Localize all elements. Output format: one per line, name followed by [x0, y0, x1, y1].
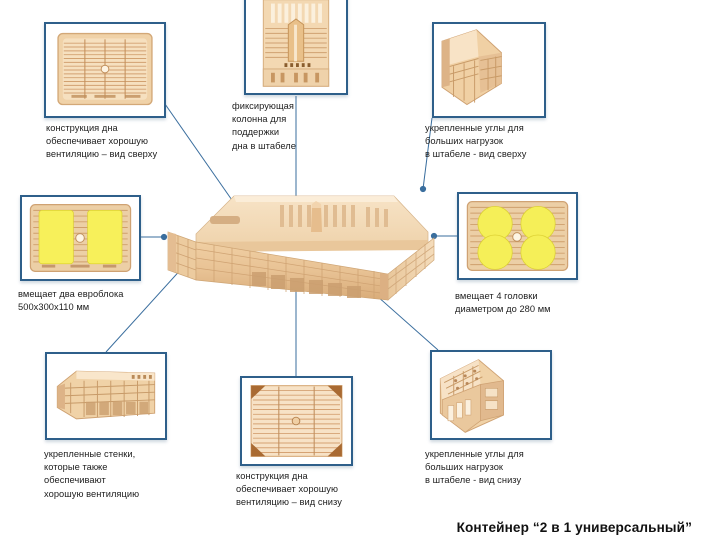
infographic-page: конструкция дна обеспечивает хорошую вен… — [0, 0, 704, 547]
crate-with-four-cheese-heads-photo — [459, 194, 576, 278]
caption-corners-top-view: укрепленные углы для больших нагрузок в … — [425, 122, 615, 162]
crate-corner-top-view-photo — [434, 24, 544, 116]
caption-reinforced-walls: укрепленные стенки, которые также обеспе… — [44, 448, 234, 501]
crate-bottom-under-view-photo — [242, 378, 351, 464]
callout-frame-corners-bottom-view[interactable] — [430, 350, 552, 440]
caption-bottom-under-view: конструкция дна обеспечивает хорошую вен… — [236, 470, 426, 510]
callout-frame-fixing-column[interactable] — [244, 0, 348, 95]
caption-bottom-top-view: конструкция дна обеспечивает хорошую вен… — [46, 122, 226, 162]
callout-frame-four-heads[interactable] — [457, 192, 578, 280]
crate-side-wall-photo — [47, 354, 165, 438]
caption-fixing-column: фиксирующая колонна для поддержки дна в … — [232, 100, 362, 153]
callout-frame-bottom-top-view[interactable] — [44, 22, 166, 118]
crate-main-perspective-photo — [152, 176, 442, 304]
callout-frame-reinforced-walls[interactable] — [45, 352, 167, 440]
crate-with-two-euroblocks-photo — [22, 197, 139, 279]
callout-frame-bottom-under-view[interactable] — [240, 376, 353, 466]
callout-frame-two-euroblocks[interactable] — [20, 195, 141, 281]
caption-corners-bottom-view: укрепленные углы для больших нагрузок в … — [425, 448, 615, 488]
crate-fixing-column-photo — [246, 0, 346, 93]
crate-main-perspective-illustration — [152, 176, 442, 304]
product-title: Контейнер “2 в 1 универсальный” — [457, 520, 692, 535]
caption-four-heads: вмещает 4 головки диаметром до 280 мм — [455, 290, 645, 316]
crate-bottom-top-view-photo — [46, 24, 164, 116]
callout-frame-corners-top-view[interactable] — [432, 22, 546, 118]
caption-two-euroblocks: вмещает два евроблока 500х300х110 мм — [18, 288, 208, 314]
crate-corner-bottom-view-photo — [432, 352, 550, 438]
